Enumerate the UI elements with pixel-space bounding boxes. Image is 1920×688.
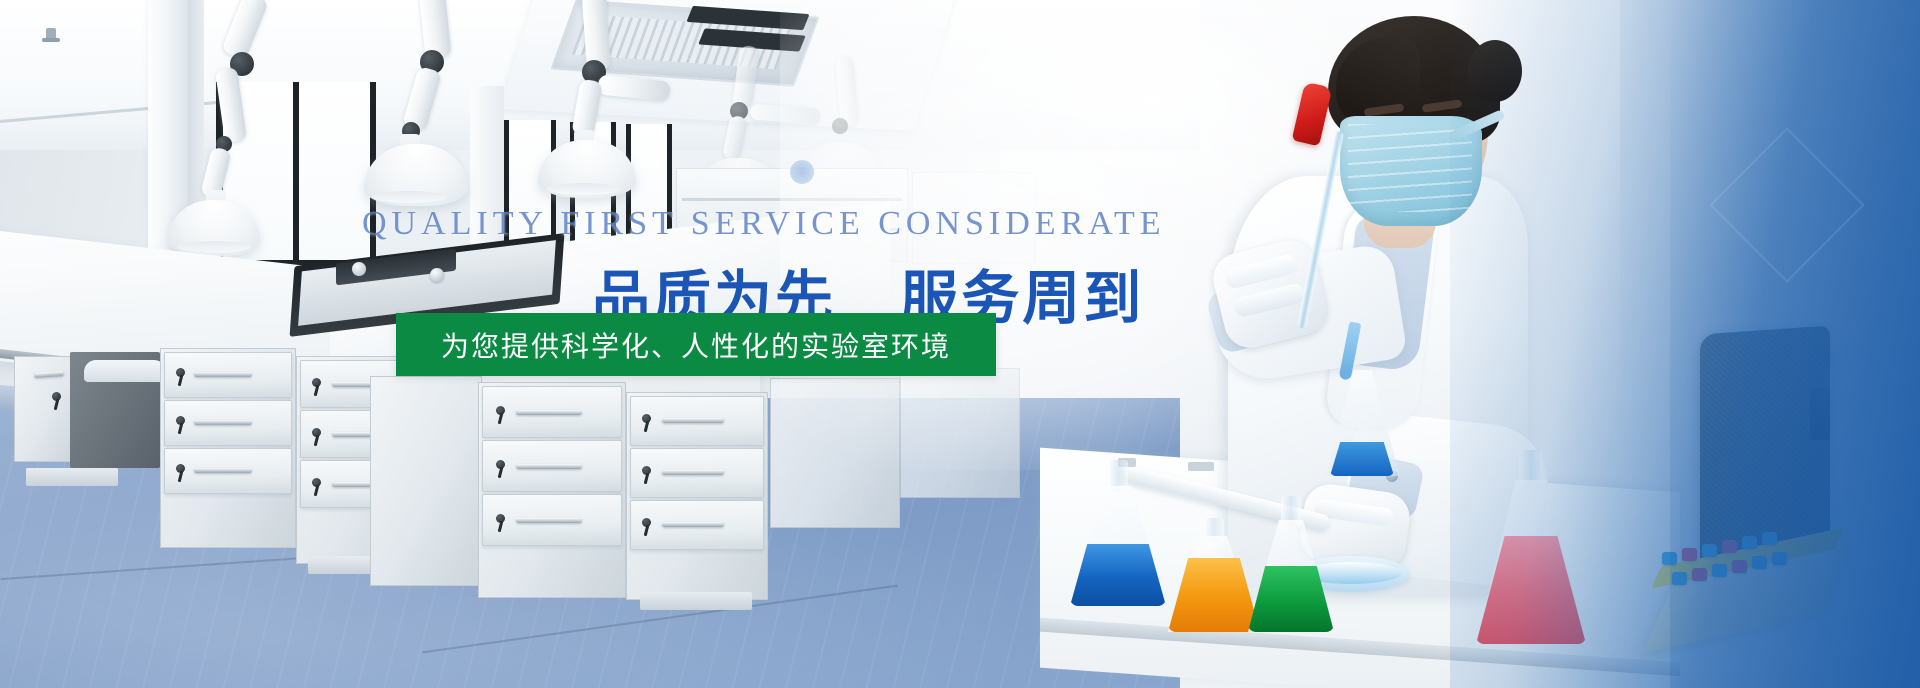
drawer-lock-icon (312, 478, 321, 487)
erlenmeyer-flask-blue (1070, 486, 1166, 606)
erlenmeyer-flask-pink (1476, 480, 1586, 644)
erlenmeyer-flask-green (1248, 520, 1334, 632)
drawer-lock-icon (496, 460, 505, 469)
flask-liquid (1168, 558, 1260, 632)
drawer-lock-icon (642, 466, 651, 475)
chair-adjust-lever-icon (1810, 388, 1830, 440)
test-tube-cap (1702, 544, 1717, 557)
test-tube-cap (1742, 536, 1757, 549)
drawer-lock-icon (176, 464, 185, 473)
test-tube-cap (1772, 552, 1787, 565)
cabinet-unit (770, 378, 900, 528)
pipette-bulb-icon (1292, 82, 1333, 147)
test-tube-cap (1692, 568, 1707, 581)
drawer-lock-icon (496, 514, 505, 523)
flask-liquid (1476, 536, 1586, 644)
cabinet-plinth (640, 592, 752, 610)
arm-joint (832, 118, 848, 134)
flask-liquid (1248, 566, 1334, 632)
drawer-handle (516, 410, 582, 415)
test-tube-cap (1752, 556, 1767, 569)
erlenmeyer-flask-orange (1168, 536, 1260, 632)
flask-liquid (1070, 544, 1166, 606)
drawer-lock-icon (496, 406, 505, 415)
subtitle-banner: 为您提供科学化、人性化的实验室环境 (396, 313, 996, 376)
test-tube-cap (1672, 572, 1687, 585)
drawer-handle (662, 418, 724, 423)
drawer-handle (516, 518, 582, 523)
sprinkler-head-icon (46, 28, 56, 42)
cabinet-lock-icon (52, 392, 61, 401)
drawer-lock-icon (176, 368, 185, 377)
drawer-lock-icon (642, 414, 651, 423)
cabinet-unit (900, 368, 1020, 498)
test-tube-cap (1732, 560, 1747, 573)
cabinet-plinth (26, 468, 118, 486)
headline-english: QUALITY FIRST SERVICE CONSIDERATE (362, 205, 1166, 243)
held-flask-liquid (1330, 442, 1394, 476)
valve-knob-icon (352, 262, 366, 276)
test-tube-cap (1722, 540, 1737, 553)
drawer-lock-icon (176, 416, 185, 425)
cabinet-side-panel (370, 376, 482, 586)
subtitle-text: 为您提供科学化、人性化的实验室环境 (441, 325, 951, 365)
test-tube-cap (1762, 532, 1777, 545)
shelf-logo-icon (790, 160, 814, 184)
hair-bun (1468, 40, 1522, 102)
drawer-handle (194, 420, 252, 425)
drawer-handle (194, 468, 252, 473)
promotional-banner: QUALITY FIRST SERVICE CONSIDERATE 品质为先 服… (0, 0, 1920, 688)
drawer-lock-icon (312, 428, 321, 437)
test-tube-cap (1682, 548, 1697, 561)
decorative-diamond-icon (1709, 127, 1865, 283)
drawer-lock-icon (312, 378, 321, 387)
waste-bin-lid (84, 360, 166, 382)
test-tube-cap (1712, 564, 1727, 577)
drawer-lock-icon (642, 518, 651, 527)
drawer-handle (662, 522, 724, 527)
shelf-rail (682, 198, 902, 201)
test-tube-cap (1662, 552, 1677, 565)
drawer-handle (662, 470, 724, 475)
valve-knob-icon (430, 268, 444, 282)
small-label-chip (1188, 462, 1214, 471)
drawer-handle (194, 372, 252, 377)
drawer-handle (516, 464, 582, 469)
